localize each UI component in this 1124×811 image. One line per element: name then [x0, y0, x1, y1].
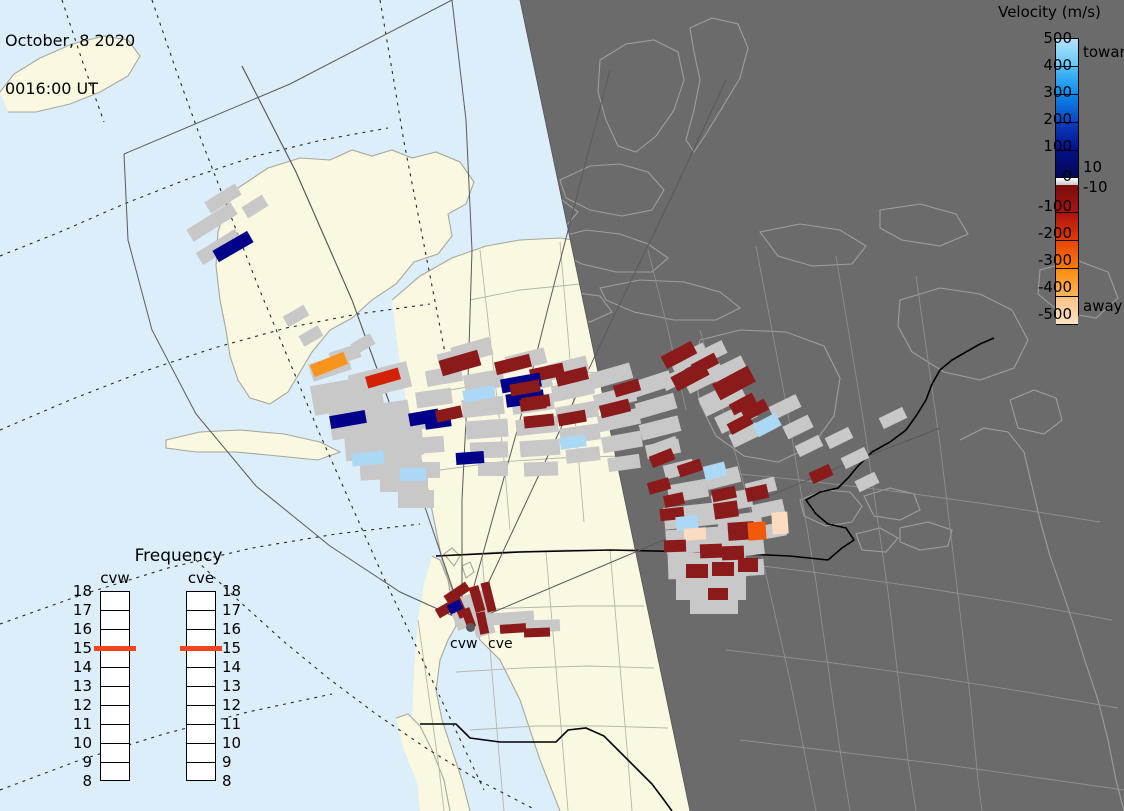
velocity-cell: [686, 564, 708, 578]
colorbar-title: Velocity (m/s): [975, 3, 1124, 21]
colorbar-label-neg-threshold: -10: [1083, 178, 1108, 196]
frequency-tick-label-cvw-14: 14: [70, 658, 92, 676]
velocity-cell: [435, 405, 463, 422]
velocity-cell: [500, 623, 527, 634]
radar-site-marker: [466, 623, 475, 632]
frequency-tick-line: [187, 629, 215, 630]
colorbar-tick--500: -500: [1012, 305, 1072, 323]
frequency-tick-label-cve-18: 18: [222, 582, 244, 600]
colorbar-tick--300: -300: [1012, 251, 1072, 269]
velocity-cell: [712, 562, 734, 576]
colorbar-label-toward: toward: [1083, 43, 1124, 61]
velocity-cell: [494, 354, 532, 375]
colorbar-tick--400: -400: [1012, 278, 1072, 296]
frequency-tick-label-cvw-16: 16: [70, 620, 92, 638]
frequency-tick-line: [101, 743, 129, 744]
ground-scatter-cell: [825, 427, 854, 449]
colorbar-tick-100: 100: [1012, 137, 1072, 155]
ground-scatter-cell: [565, 446, 600, 463]
timestamp-title: October, 8 2020 0016:00 UT: [5, 1, 135, 129]
velocity-cell: [524, 628, 550, 638]
frequency-column-label-cve: cve: [178, 569, 224, 587]
radar-label-cvw: cvw: [450, 636, 477, 652]
radar-label-cve: cve: [488, 636, 513, 652]
colorbar-label-pos-threshold: 10: [1083, 158, 1102, 176]
frequency-tick-line: [187, 724, 215, 725]
velocity-cell: [809, 464, 834, 484]
frequency-panel: Frequency cvw18171615141312111098cve1817…: [86, 546, 316, 806]
ground-scatter-cell: [635, 393, 678, 419]
ground-scatter-cell: [854, 472, 879, 492]
frequency-scale-box-cvw: [100, 591, 130, 781]
frequency-tick-line: [101, 724, 129, 725]
frequency-tick-label-cvw-9: 9: [70, 753, 92, 771]
frequency-tick-label-cve-11: 11: [222, 715, 244, 733]
ground-scatter-cell: [841, 447, 870, 469]
frequency-tick-label-cve-12: 12: [222, 696, 244, 714]
frequency-column-label-cvw: cvw: [92, 569, 138, 587]
colorbar-tick-400: 400: [1012, 56, 1072, 74]
frequency-tick-line: [187, 762, 215, 763]
ground-scatter-cell: [478, 462, 508, 476]
frequency-tick-line: [101, 686, 129, 687]
frequency-scale-box-cve: [186, 591, 216, 781]
frequency-tick-label-cvw-10: 10: [70, 734, 92, 752]
frequency-tick-label-cve-9: 9: [222, 753, 244, 771]
frequency-tick-label-cve-10: 10: [222, 734, 244, 752]
frequency-tick-label-cvw-17: 17: [70, 601, 92, 619]
frequency-tick-label-cve-13: 13: [222, 677, 244, 695]
frequency-title: Frequency: [86, 546, 271, 566]
ground-scatter-cell: [782, 415, 813, 440]
velocity-cell: [456, 451, 485, 465]
colorbar-tick-0: 0: [1012, 167, 1072, 185]
velocity-cell: [747, 521, 766, 540]
colorbar-tick-200: 200: [1012, 110, 1072, 128]
velocity-cell: [664, 540, 686, 553]
colorbar-tick--100: -100: [1012, 197, 1072, 215]
frequency-tick-label-cvw-11: 11: [70, 715, 92, 733]
ground-scatter-cell: [241, 195, 268, 219]
frequency-tick-line: [187, 705, 215, 706]
ground-scatter-cell: [607, 454, 641, 472]
ground-scatter-cell: [283, 305, 310, 327]
velocity-colorbar: Velocity (m/s) 5004003002001000-100-200-…: [975, 0, 1124, 340]
colorbar-label-away: away: [1083, 297, 1123, 315]
ground-scatter-cell: [398, 490, 434, 508]
velocity-cell: [713, 500, 739, 519]
velocity-cell: [684, 527, 707, 541]
ground-scatter-cell: [298, 325, 323, 346]
frequency-tick-line: [101, 762, 129, 763]
frequency-tick-line: [101, 705, 129, 706]
ground-scatter-cell: [879, 407, 908, 429]
velocity-cell: [700, 544, 722, 559]
superdarn-map-view: cvw cve October, 8 2020 0016:00 UT Veloc…: [0, 0, 1124, 811]
frequency-tick-label-cve-14: 14: [222, 658, 244, 676]
ground-scatter-cell: [415, 388, 453, 409]
frequency-tick-label-cve-17: 17: [222, 601, 244, 619]
frequency-tick-label-cvw-18: 18: [70, 582, 92, 600]
frequency-tick-line: [187, 743, 215, 744]
colorbar-tick-500: 500: [1012, 29, 1072, 47]
title-time: 0016:00 UT: [5, 81, 135, 97]
frequency-tick-label-cve-15: 15: [222, 639, 244, 657]
frequency-tick-label-cvw-15: 15: [70, 639, 92, 657]
ground-scatter-cell: [795, 435, 824, 457]
ground-scatter-cell: [519, 439, 560, 458]
frequency-marker-cve: [180, 646, 222, 651]
frequency-tick-label-cve-8: 8: [222, 772, 244, 790]
velocity-cell: [738, 558, 758, 572]
frequency-tick-line: [101, 629, 129, 630]
velocity-cell: [708, 588, 728, 600]
frequency-tick-line: [187, 686, 215, 687]
frequency-tick-line: [101, 610, 129, 611]
frequency-tick-label-cvw-12: 12: [70, 696, 92, 714]
velocity-cell: [771, 511, 788, 534]
ground-scatter-cell: [601, 431, 643, 454]
velocity-cell: [745, 484, 769, 502]
frequency-tick-line: [187, 610, 215, 611]
title-date: October, 8 2020: [5, 33, 135, 49]
ground-scatter-cell: [465, 419, 508, 440]
frequency-tick-line: [101, 667, 129, 668]
frequency-marker-cvw: [94, 646, 136, 651]
frequency-tick-line: [187, 667, 215, 668]
ground-scatter-cell: [411, 436, 444, 454]
colorbar-tick-300: 300: [1012, 83, 1072, 101]
ground-scatter-cell: [524, 461, 558, 476]
frequency-tick-label-cve-16: 16: [222, 620, 244, 638]
velocity-cell: [400, 468, 426, 481]
colorbar-tick--200: -200: [1012, 224, 1072, 242]
frequency-tick-label-cvw-8: 8: [70, 772, 92, 790]
frequency-tick-label-cvw-13: 13: [70, 677, 92, 695]
